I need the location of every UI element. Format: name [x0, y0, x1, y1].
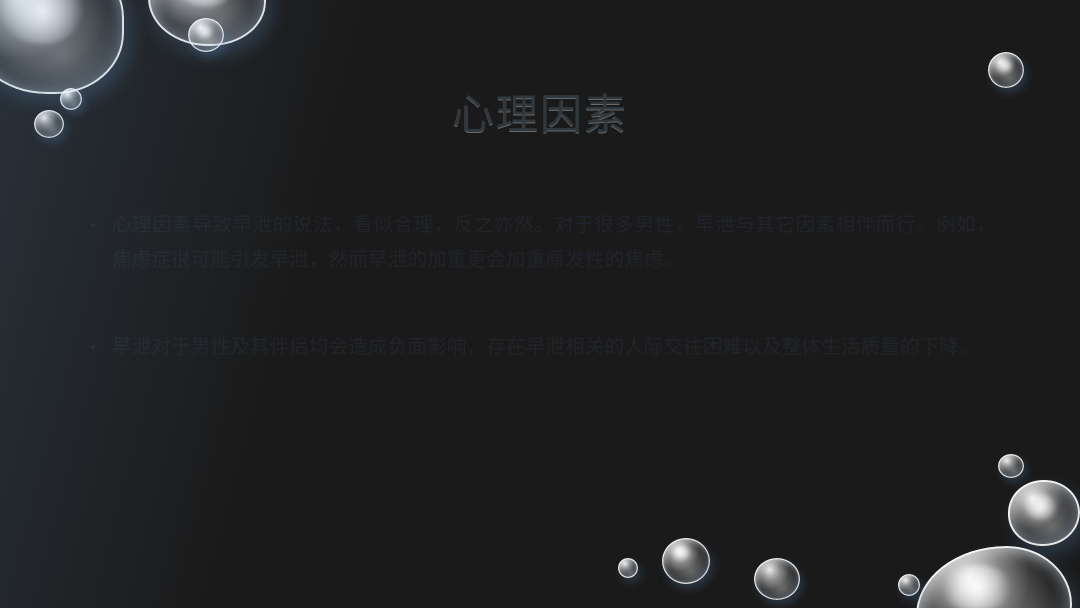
bullet-item: 早泄对于男性及其伴侣均会造成负面影响，存在早泄相关的人际交往困难以及整体生活质量…: [86, 330, 996, 365]
presentation-slide: 心理因素 心理因素导致早泄的说法，看似合理，反之亦然。对于很多男性，早泄与其它因…: [0, 0, 1080, 608]
drop-bottom-mid-b: [754, 558, 800, 600]
drop-bottom-mid-small: [618, 558, 638, 578]
drop-right-large: [1008, 480, 1080, 546]
bullet-item: 心理因素导致早泄的说法，看似合理，反之亦然。对于很多男性，早泄与其它因素相伴而行…: [86, 208, 996, 278]
bullet-text: 早泄对于男性及其伴侣均会造成负面影响，存在早泄相关的人际交往困难以及整体生活质量…: [112, 337, 979, 358]
droplet-highlight: [1, 0, 83, 44]
bullet-text: 心理因素导致早泄的说法，看似合理，反之亦然。对于很多男性，早泄与其它因素相伴而行…: [112, 215, 996, 271]
drop-right-small: [998, 454, 1024, 478]
bullet-marker-icon: [91, 345, 95, 349]
drop-top-left-mid: [148, 0, 266, 46]
drop-top-right: [988, 52, 1024, 88]
droplet-highlight: [197, 25, 213, 38]
droplet-highlight: [1024, 493, 1057, 519]
droplet-highlight: [176, 0, 235, 7]
droplet-highlight: [672, 544, 691, 561]
droplet-highlight: [997, 58, 1014, 72]
bullet-marker-icon: [91, 223, 95, 227]
slide-body: 心理因素导致早泄的说法，看似合理，反之亦然。对于很多男性，早泄与其它因素相伴而行…: [86, 208, 996, 365]
slide-title: 心理因素: [0, 92, 1080, 140]
drop-bottom-small-a: [898, 574, 920, 596]
drop-bottom-mid-a: [662, 538, 710, 584]
drop-top-mid: [188, 18, 224, 52]
droplet-highlight: [941, 565, 1013, 608]
drop-top-left-large: [0, 0, 124, 94]
drop-bottom-right-blob: [916, 546, 1072, 608]
